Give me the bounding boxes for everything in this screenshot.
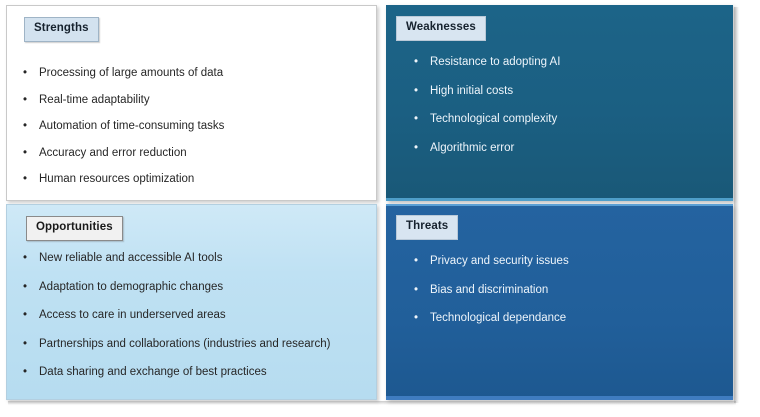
quadrant-title-weaknesses: Weaknesses	[396, 16, 486, 41]
list-item-label: Partnerships and collaborations (industr…	[39, 338, 331, 350]
list-item: • Processing of large amounts of data	[19, 68, 224, 80]
list-item-label: High initial costs	[430, 85, 513, 97]
list-item: • Access to care in underserved areas	[19, 310, 331, 322]
list-item-label: Access to care in underserved areas	[39, 309, 226, 321]
list-item-label: Resistance to adopting AI	[430, 56, 560, 68]
list-item-sub: • Accuracy and error reduction	[19, 148, 224, 160]
quadrant-title-opportunities: Opportunities	[26, 216, 123, 241]
list-item-label: Data sharing and exchange of best practi…	[39, 366, 267, 378]
list-item-label: Automation of time-consuming tasks	[39, 120, 224, 132]
list-item: • Algorithmic error	[410, 143, 560, 155]
quadrant-title-strengths: Strengths	[24, 17, 99, 42]
list-item-label: Adaptation to demographic changes	[39, 281, 223, 293]
quadrant-weaknesses[interactable]: Weaknesses • Resistance to adopting AI •…	[386, 5, 733, 201]
list-item-label: Human resources optimization	[39, 173, 194, 185]
list-item-label: Bias and discrimination	[430, 284, 548, 296]
bullet-icon: •	[23, 148, 27, 160]
list-item: • Data sharing and exchange of best prac…	[19, 367, 331, 379]
quadrant-threats[interactable]: Threats • Privacy and security issues • …	[386, 204, 733, 400]
list-item: • Partnerships and collaborations (indus…	[19, 339, 331, 351]
list-item-label: Algorithmic error	[430, 142, 514, 154]
bullet-icon: •	[414, 313, 418, 325]
list-item: • Resistance to adopting AI	[410, 57, 560, 69]
quadrant-opportunities[interactable]: Opportunities • New reliable and accessi…	[6, 204, 377, 400]
list-item-label: Privacy and security issues	[430, 255, 569, 267]
bullet-icon: •	[23, 282, 27, 294]
bullet-icon: •	[23, 174, 27, 186]
bullet-icon: •	[414, 256, 418, 268]
list-item: • Real-time adaptability	[19, 95, 224, 107]
bullet-list-weaknesses: • Resistance to adopting AI • High initi…	[410, 57, 560, 171]
list-item: • Bias and discrimination	[410, 285, 569, 297]
list-item: • Adaptation to demographic changes	[19, 282, 331, 294]
bullet-icon: •	[23, 339, 27, 351]
list-item: • Automation of time-consuming tasks	[19, 121, 224, 133]
list-item-label: Real-time adaptability	[39, 94, 150, 106]
bullet-icon: •	[414, 57, 418, 69]
list-item-label: Technological dependance	[430, 312, 566, 324]
swot-matrix: Strengths • Processing of large amounts …	[0, 0, 760, 417]
bullet-icon: •	[23, 253, 27, 265]
bullet-list-threats: • Privacy and security issues • Bias and…	[410, 256, 569, 342]
bullet-icon: •	[414, 114, 418, 126]
list-item-sub: • Human resources optimization	[19, 174, 224, 186]
bullet-list-strengths: • Processing of large amounts of data • …	[19, 68, 224, 201]
list-item: • Technological complexity	[410, 114, 560, 126]
list-item-label: Processing of large amounts of data	[39, 67, 223, 79]
list-item: • New reliable and accessible AI tools	[19, 253, 331, 265]
list-item: • Privacy and security issues	[410, 256, 569, 268]
list-item-label: Accuracy and error reduction	[39, 147, 187, 159]
bullet-list-opportunities: • New reliable and accessible AI tools •…	[19, 253, 331, 396]
list-item-label: New reliable and accessible AI tools	[39, 252, 222, 264]
frame-shadow-right	[734, 7, 739, 403]
quadrant-strengths[interactable]: Strengths • Processing of large amounts …	[6, 5, 377, 201]
list-item: • High initial costs	[410, 86, 560, 98]
bullet-icon: •	[23, 367, 27, 379]
bullet-icon: •	[414, 143, 418, 155]
bullet-icon: •	[414, 86, 418, 98]
quadrant-title-threats: Threats	[396, 215, 458, 240]
bullet-icon: •	[23, 95, 27, 107]
bullet-icon: •	[414, 285, 418, 297]
bullet-icon: •	[23, 68, 27, 80]
list-item-label: Technological complexity	[430, 113, 557, 125]
bullet-icon: •	[23, 121, 27, 133]
list-item: • Technological dependance	[410, 313, 569, 325]
bullet-icon: •	[23, 310, 27, 322]
frame-shadow-bottom	[8, 401, 736, 405]
